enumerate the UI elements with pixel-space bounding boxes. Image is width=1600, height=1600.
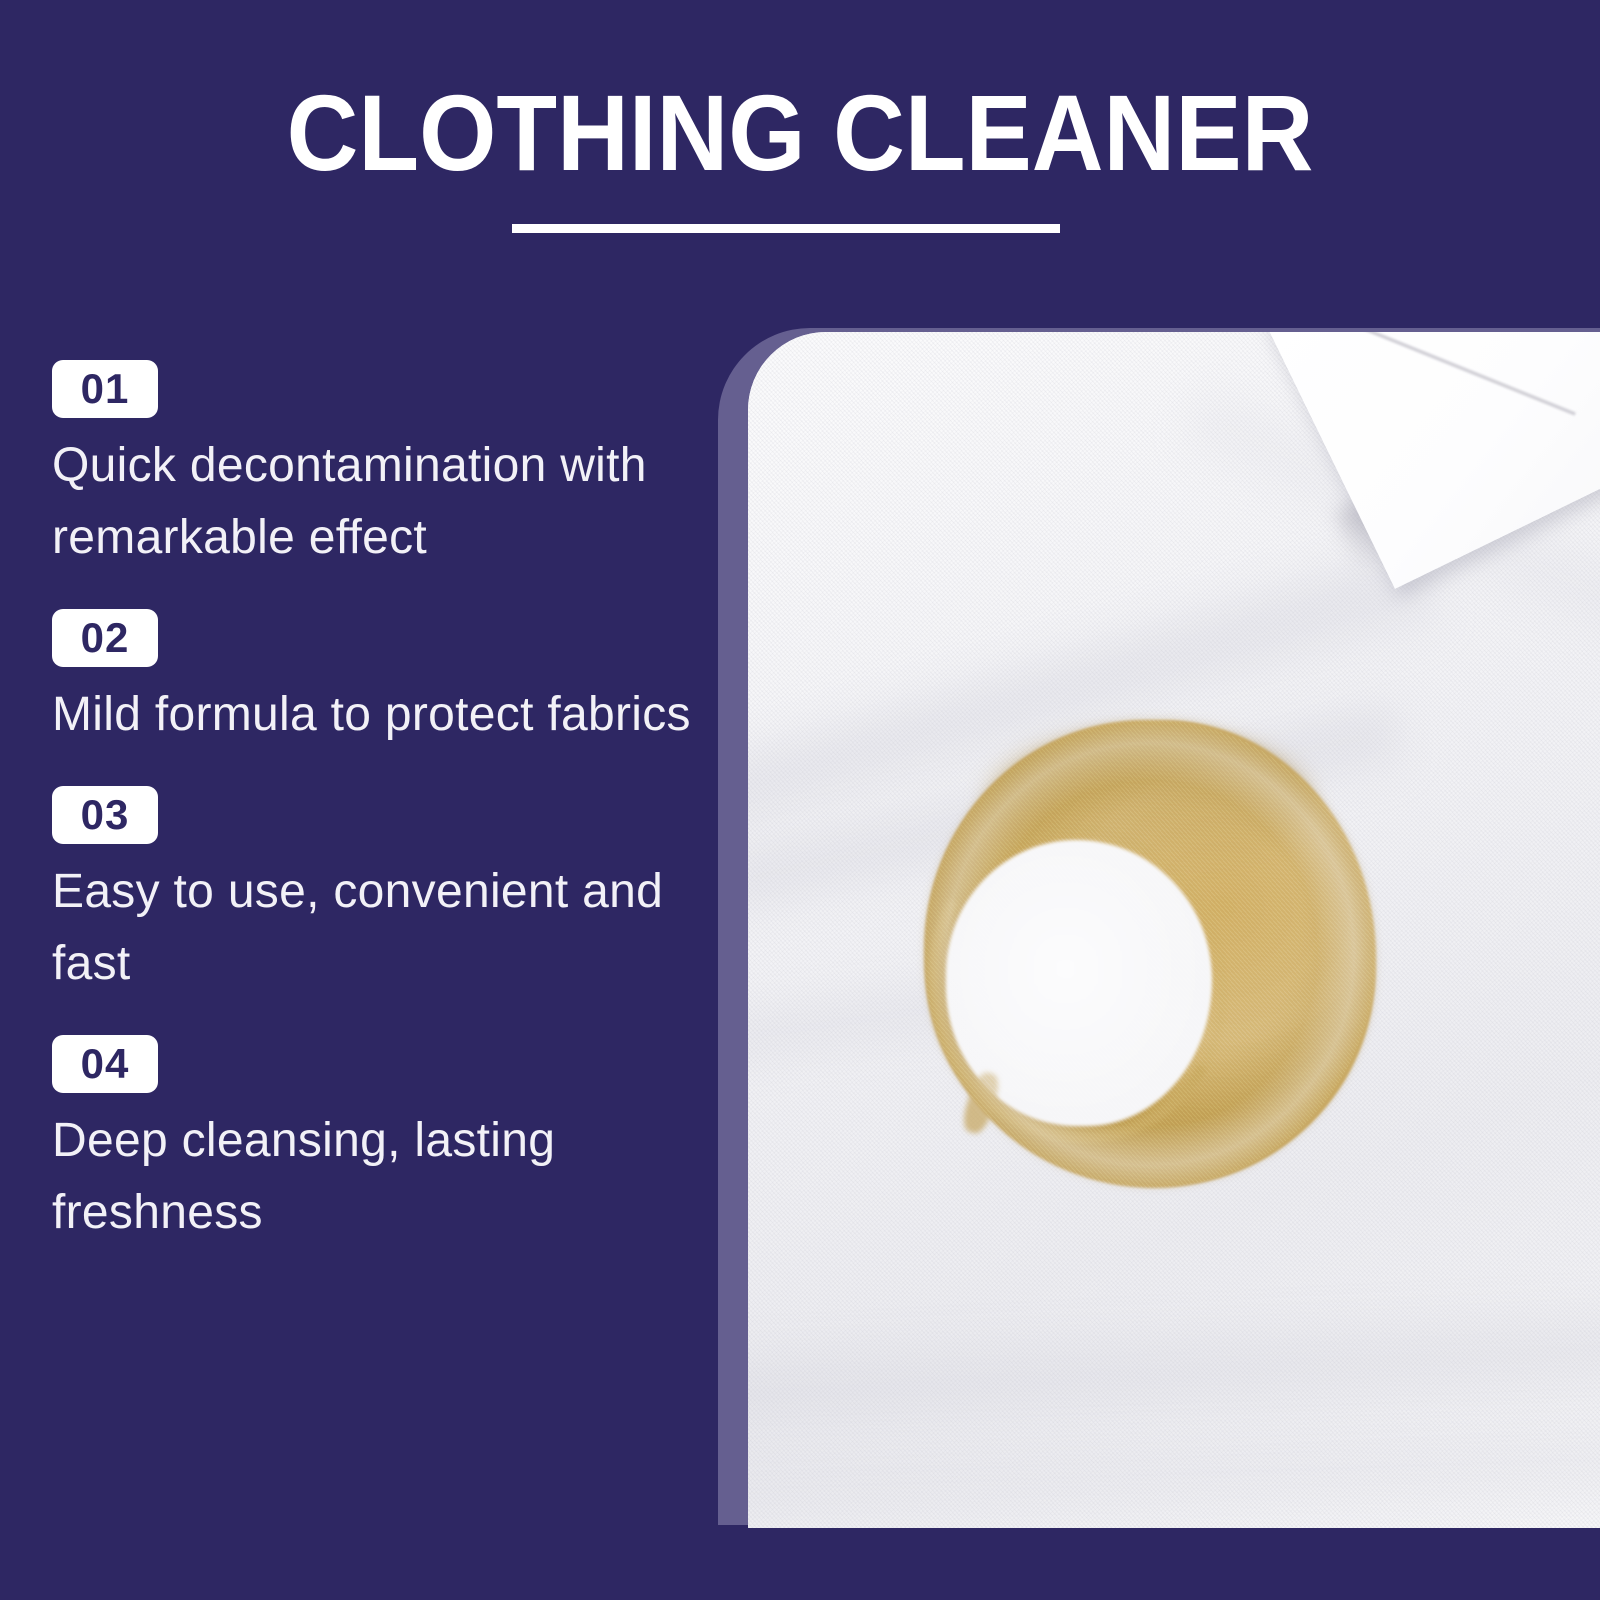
feature-number-badge: 01 — [52, 360, 158, 418]
poster-header: CLOTHING CLEANER — [0, 0, 1600, 300]
list-item: 02 Mild formula to protect fabrics — [52, 609, 692, 751]
feature-description: Easy to use, convenient and fast — [52, 856, 692, 1000]
page-title: CLOTHING CLEANER — [64, 78, 1536, 188]
stain-edge-softener — [918, 714, 1382, 1194]
list-item: 01 Quick decontamination with remarkable… — [52, 360, 692, 574]
product-photo — [748, 332, 1600, 1528]
feature-number-badge: 04 — [52, 1035, 158, 1093]
coffee-stain-icon — [924, 720, 1376, 1188]
list-item: 03 Easy to use, convenient and fast — [52, 786, 692, 1000]
feature-number-badge: 03 — [52, 786, 158, 844]
title-divider — [512, 224, 1060, 233]
feature-list: 01 Quick decontamination with remarkable… — [52, 360, 692, 1249]
feature-description: Deep cleansing, lasting freshness — [52, 1105, 692, 1249]
list-item: 04 Deep cleansing, lasting freshness — [52, 1035, 692, 1249]
feature-description: Quick decontamination with remarkable ef… — [52, 430, 692, 574]
product-feature-poster: CLOTHING CLEANER 01 Quick decontaminatio… — [0, 0, 1600, 1600]
feature-description: Mild formula to protect fabrics — [52, 679, 692, 751]
feature-number-badge: 02 — [52, 609, 158, 667]
